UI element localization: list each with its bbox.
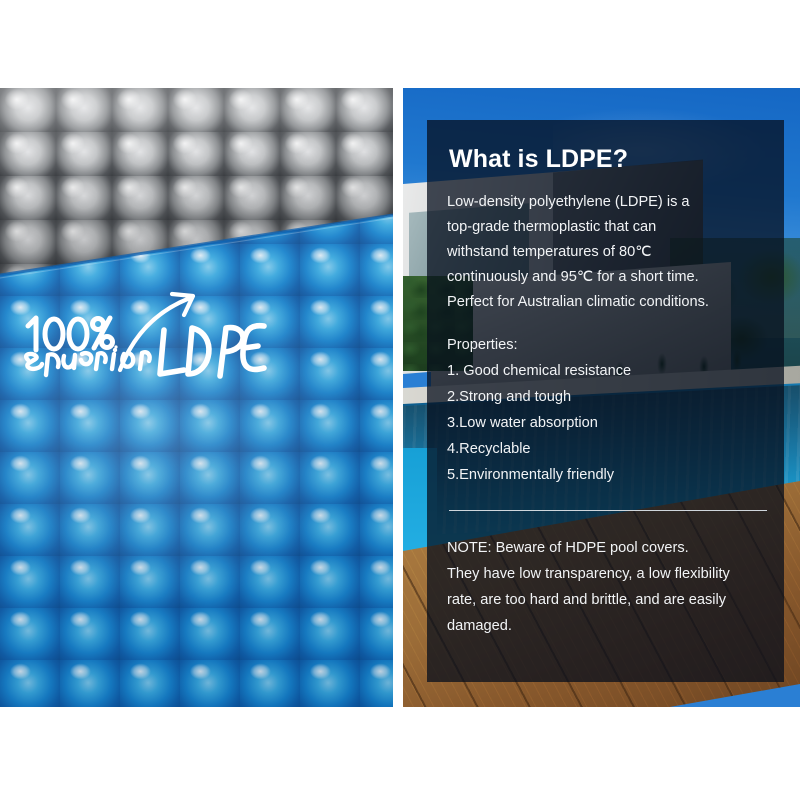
- properties-heading: Properties:: [447, 333, 762, 358]
- intro-line: top-grade thermoplastic that can: [447, 215, 762, 240]
- note-line: rate, are too hard and brittle, and are …: [447, 587, 762, 613]
- intro-line: withstand temperatures of 80℃: [447, 240, 762, 265]
- list-item: 3.Low water absorption: [447, 410, 762, 436]
- properties-list: 1. Good chemical resistance 2.Strong and…: [447, 358, 762, 488]
- left-product-photo-panel: [0, 88, 393, 707]
- section-divider: [449, 510, 767, 511]
- list-item: 2.Strong and tough: [447, 384, 762, 410]
- list-item: 5.Environmentally friendly: [447, 462, 762, 488]
- right-info-panel: What is LDPE? Low-density polyethylene (…: [403, 88, 800, 707]
- note-paragraph: NOTE: Beware of HDPE pool covers. They h…: [447, 535, 762, 639]
- intro-line: continuously and 95℃ for a short time.: [447, 265, 762, 290]
- infographic-canvas: What is LDPE? Low-density polyethylene (…: [0, 0, 800, 800]
- intro-paragraph: Low-density polyethylene (LDPE) is a top…: [447, 190, 762, 315]
- note-line: damaged.: [447, 613, 762, 639]
- card-title: What is LDPE?: [449, 146, 762, 174]
- note-line: They have low transparency, a low flexib…: [447, 561, 762, 587]
- note-line: NOTE: Beware of HDPE pool covers.: [447, 535, 762, 561]
- intro-line: Low-density polyethylene (LDPE) is a: [447, 190, 762, 215]
- list-item: 4.Recyclable: [447, 436, 762, 462]
- info-text-card: What is LDPE? Low-density polyethylene (…: [427, 120, 784, 682]
- intro-line: Perfect for Australian climatic conditio…: [447, 290, 762, 315]
- list-item: 1. Good chemical resistance: [447, 358, 762, 384]
